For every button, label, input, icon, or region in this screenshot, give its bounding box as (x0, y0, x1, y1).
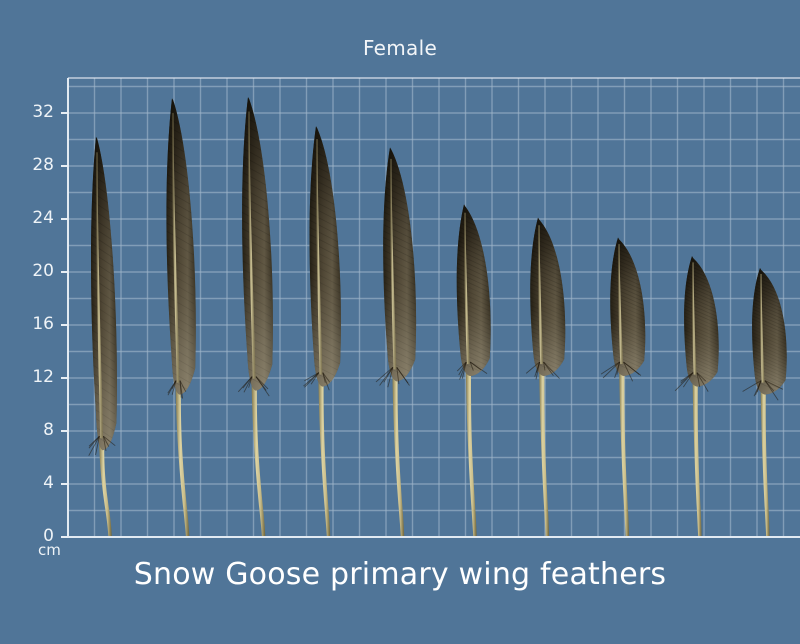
y-axis-tick-label: 28 (8, 155, 54, 175)
feather-8 (578, 234, 688, 536)
feather-shading (652, 252, 762, 395)
page-title: Female (0, 36, 800, 60)
feather-shading (56, 133, 166, 458)
y-axis-tick-label: 0 (8, 526, 54, 546)
feather-layer (56, 93, 800, 536)
feather-chart-graphic (0, 0, 800, 644)
feather-3 (208, 93, 318, 536)
feather-shading (578, 234, 688, 384)
feather-shading (350, 143, 460, 389)
feather-shading (276, 122, 386, 394)
feather-6 (424, 200, 534, 536)
chart-canvas: Female Snow Goose primary wing feathers … (0, 0, 800, 644)
feather-9 (652, 252, 762, 536)
y-axis-tick-label: 16 (8, 314, 54, 334)
feather-quill (539, 360, 549, 536)
y-axis-tick-label: 8 (8, 420, 54, 440)
feather-1 (56, 133, 166, 536)
y-axis-tick-label: 12 (8, 367, 54, 387)
feather-10 (720, 264, 800, 536)
y-axis-tick-label: 20 (8, 261, 54, 281)
feather-4 (276, 122, 386, 536)
y-axis-tick-label: 4 (8, 473, 54, 493)
y-axis-tick-label: 32 (8, 102, 54, 122)
y-axis-tick-label: 24 (8, 208, 54, 228)
feather-5 (350, 143, 460, 536)
feather-7 (498, 214, 608, 536)
chart-caption: Snow Goose primary wing feathers (0, 557, 800, 592)
feather-2 (132, 94, 242, 536)
feather-quill (466, 360, 477, 536)
